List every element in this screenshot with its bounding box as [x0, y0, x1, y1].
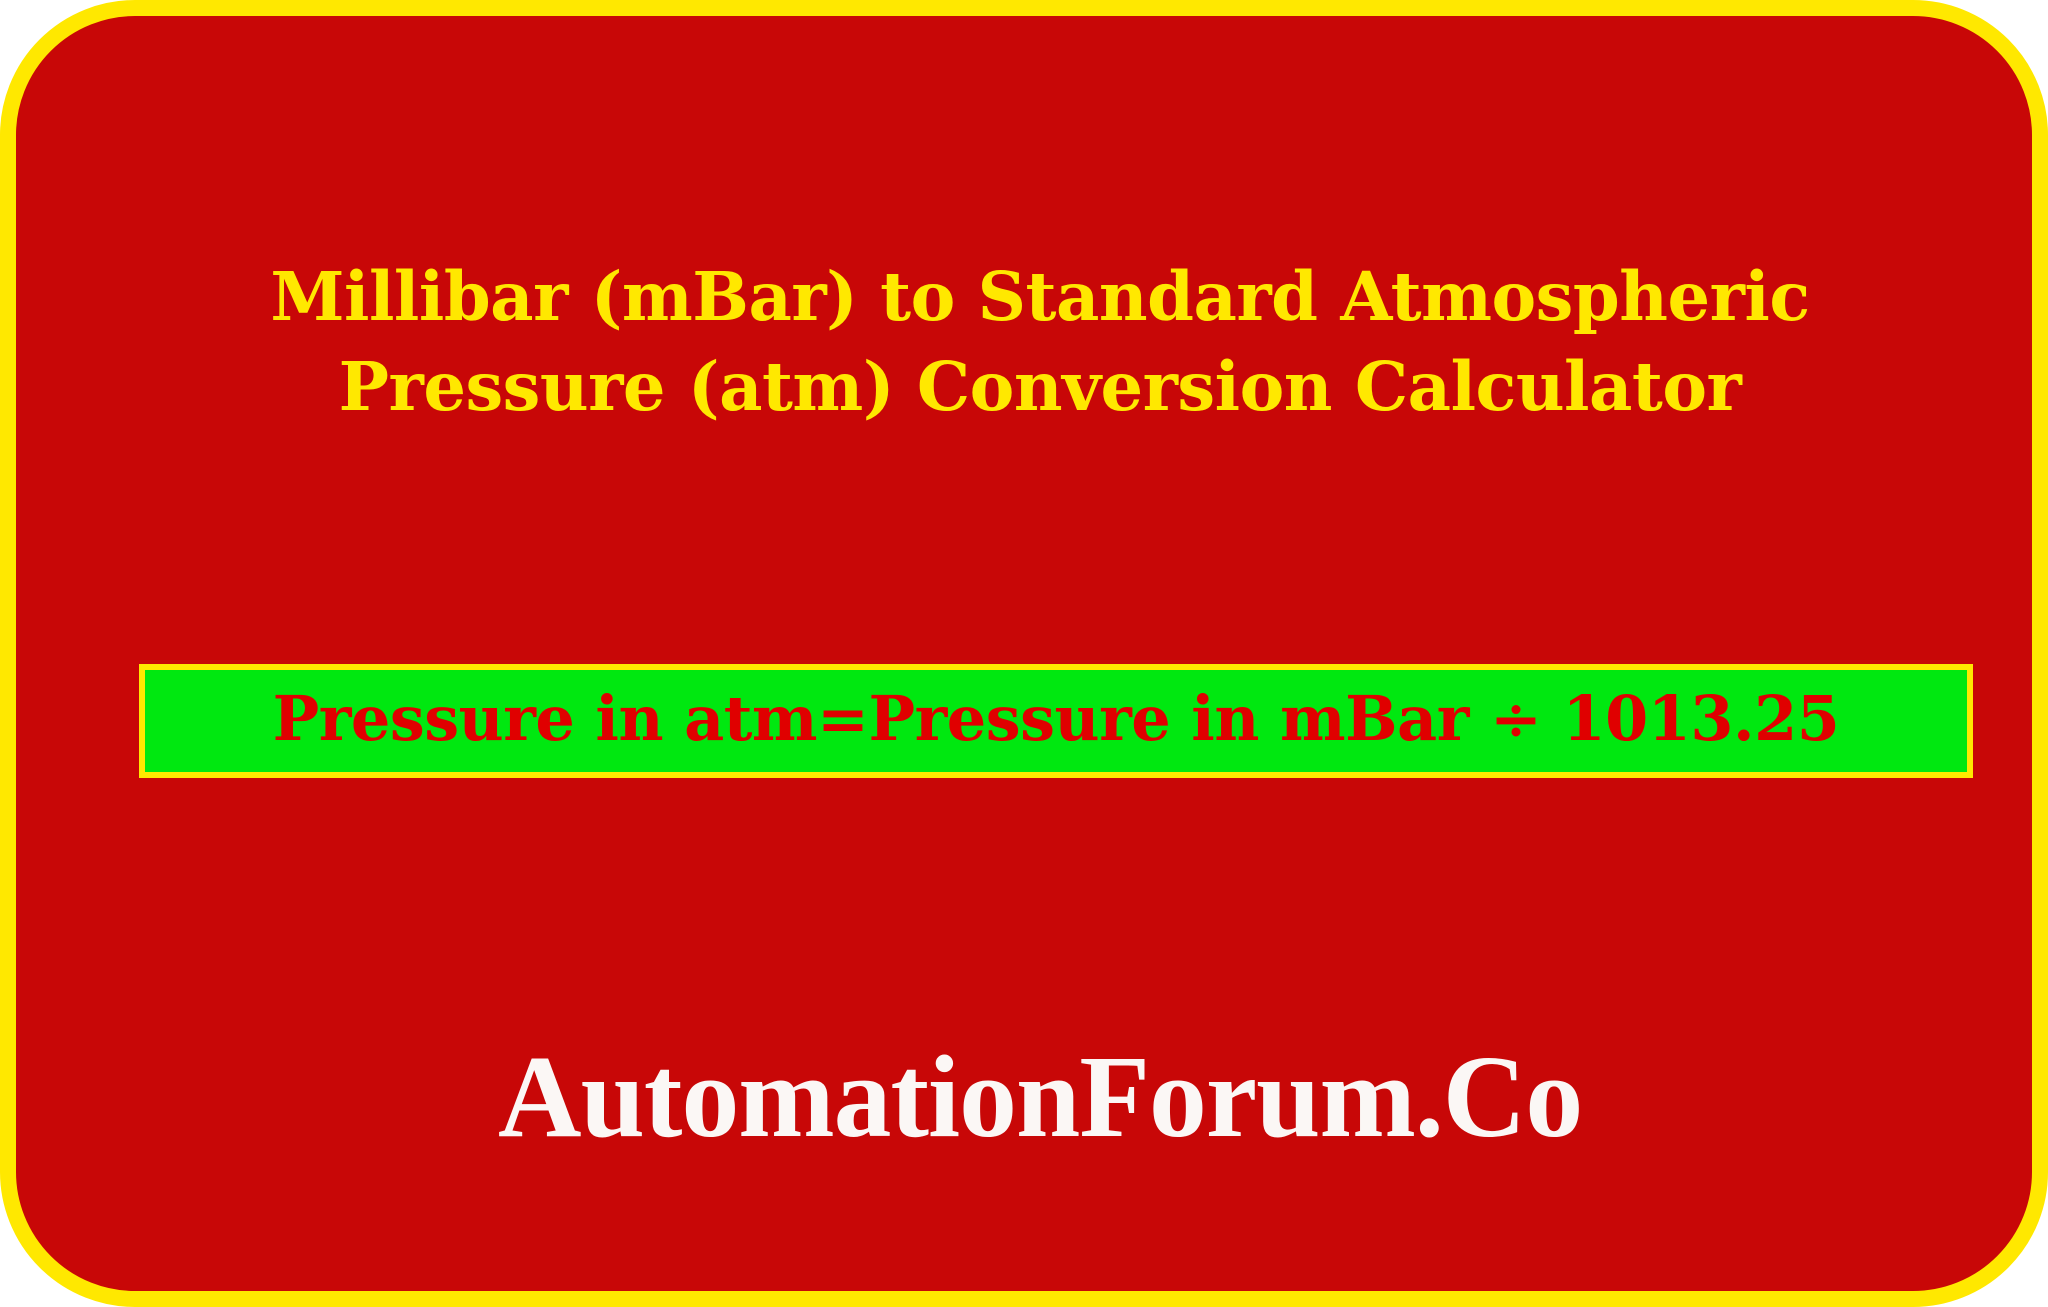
- watermark-text: AutomationForum.Co: [498, 1032, 1582, 1162]
- watermark: AutomationForum.Co: [16, 1032, 2048, 1162]
- page-title-line-2: Pressure (atm) Conversion Calculator: [16, 342, 2048, 432]
- page-title: Millibar (mBar) to Standard Atmospheric …: [16, 252, 2048, 432]
- formula-text: Pressure in atm=Pressure in mBar ÷ 1013.…: [273, 688, 1840, 750]
- poster-canvas: Millibar (mBar) to Standard Atmospheric …: [0, 0, 2048, 1307]
- conversion-calculator-card: Millibar (mBar) to Standard Atmospheric …: [0, 0, 2048, 1307]
- formula-box: Pressure in atm=Pressure in mBar ÷ 1013.…: [139, 664, 1973, 778]
- page-title-line-1: Millibar (mBar) to Standard Atmospheric: [16, 252, 2048, 342]
